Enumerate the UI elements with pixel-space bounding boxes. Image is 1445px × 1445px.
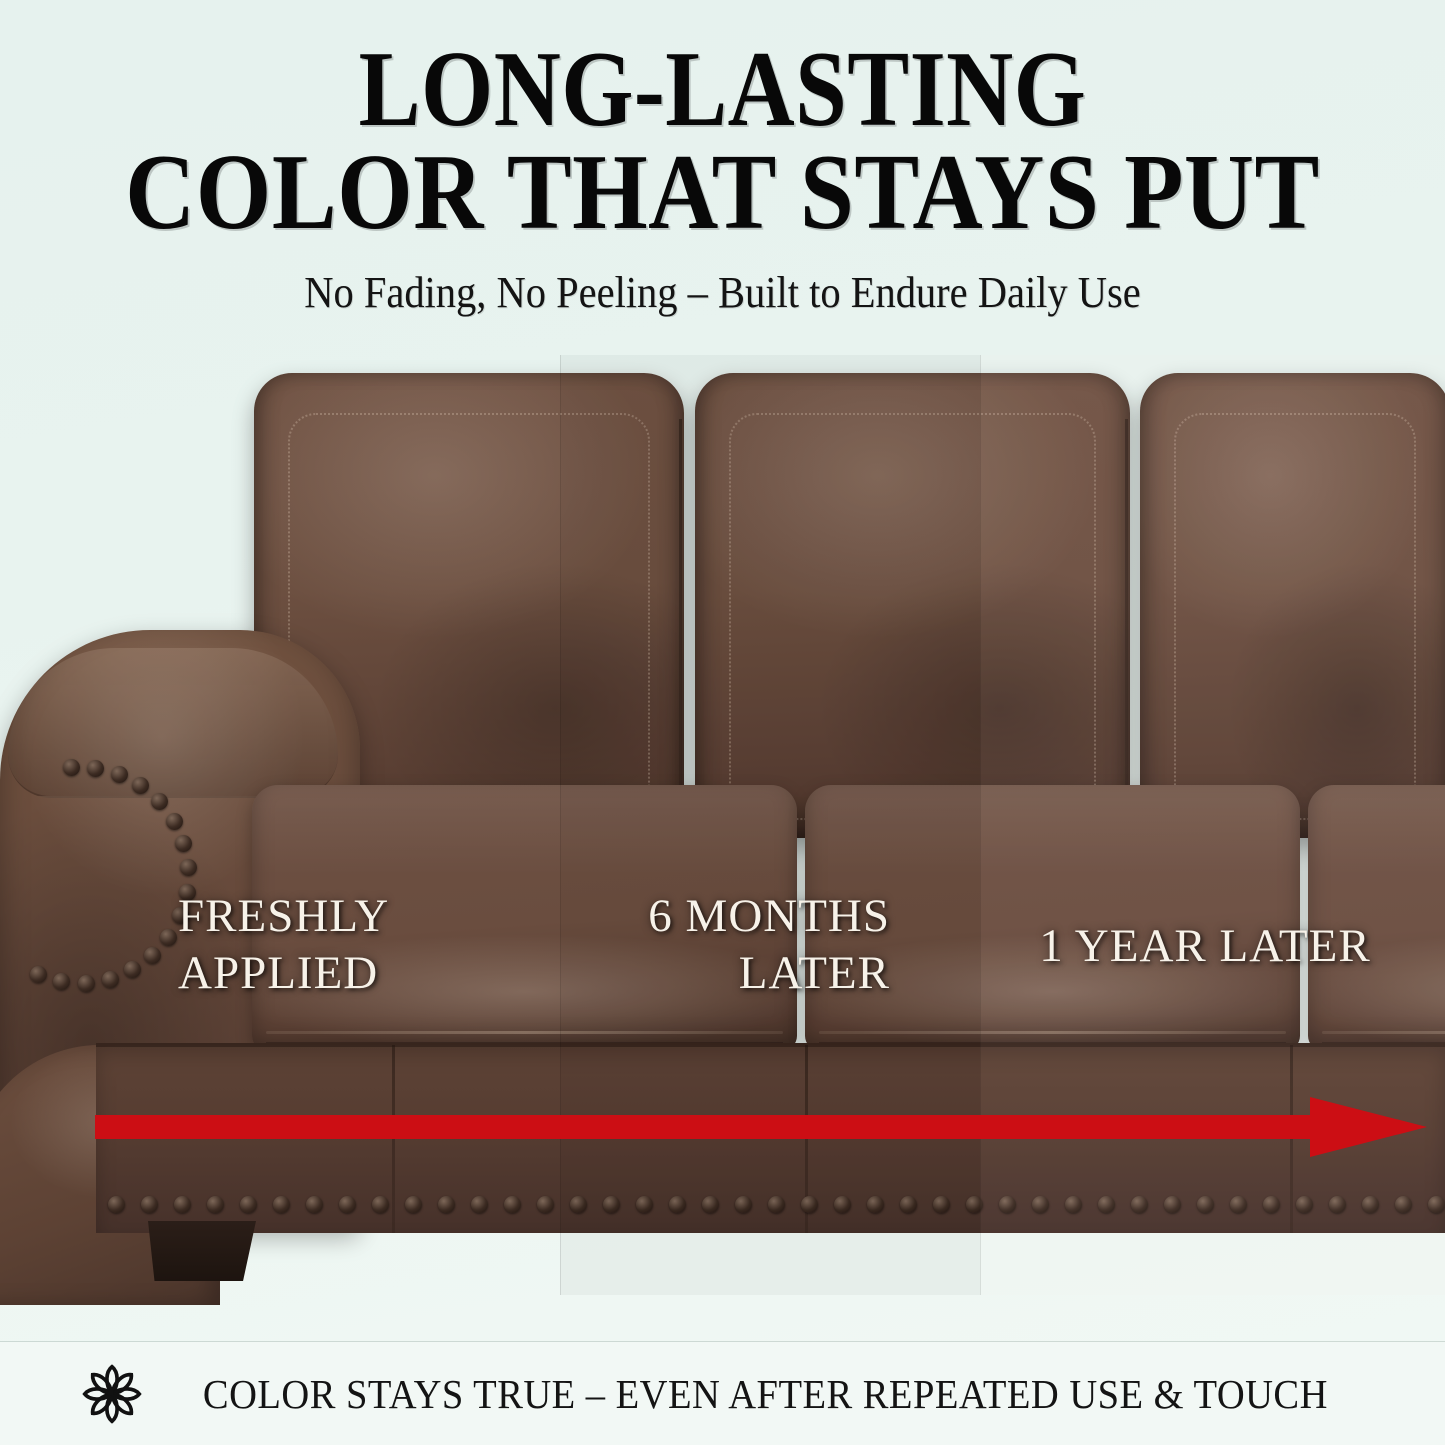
stitch-panel-icon (1174, 413, 1416, 820)
nailhead-stud (999, 1196, 1016, 1213)
nailhead-stud (933, 1196, 950, 1213)
nailhead-stud (537, 1196, 554, 1213)
nailhead-stud (207, 1196, 224, 1213)
stitch-panel-icon (729, 413, 1096, 820)
nailhead-stud (405, 1196, 422, 1213)
nailhead-stud (175, 835, 192, 852)
nailhead-stud (603, 1196, 620, 1213)
nailhead-stud (306, 1196, 323, 1213)
nailhead-stud (1263, 1196, 1280, 1213)
nailhead-stud (174, 1196, 191, 1213)
nailhead-stud (1098, 1196, 1115, 1213)
infographic-canvas: LONG-LASTING COLOR THAT STAYS PUT No Fad… (0, 0, 1445, 1445)
nailhead-stud (669, 1196, 686, 1213)
stage-label-freshly-applied: FRESHLY APPLIED (178, 888, 389, 1003)
subheadline: No Fading, No Peeling – Built to Endure … (58, 267, 1387, 318)
nailhead-stud (900, 1196, 917, 1213)
welt-highlight (266, 1031, 783, 1034)
back-cushion-middle (695, 373, 1130, 838)
nailhead-stud (240, 1196, 257, 1213)
nailhead-stud (1230, 1196, 1247, 1213)
flower-petal (89, 1371, 116, 1398)
welt-highlight (1322, 1031, 1445, 1034)
nailhead-stud (273, 1196, 290, 1213)
welt-highlight (819, 1031, 1286, 1034)
nailhead-stud (180, 859, 197, 876)
seam-line (679, 419, 682, 828)
nailhead-stud (702, 1196, 719, 1213)
nailhead-stud (1395, 1196, 1412, 1213)
nailhead-stud (735, 1196, 752, 1213)
nailhead-stud (166, 813, 183, 830)
flower-icon (81, 1363, 143, 1425)
nailhead-stud (87, 760, 104, 777)
footer-banner: COLOR STAYS TRUE – EVEN AFTER REPEATED U… (0, 1342, 1445, 1445)
nailhead-stud (160, 929, 177, 946)
back-cushion-right (1140, 373, 1445, 838)
nailhead-stud (339, 1196, 356, 1213)
base-top-edge (96, 1043, 1445, 1047)
header-block: LONG-LASTING COLOR THAT STAYS PUT No Fad… (0, 0, 1445, 345)
nailhead-stud (30, 966, 47, 983)
nailhead-stud (63, 759, 80, 776)
nailhead-stud (108, 1196, 125, 1213)
nailhead-stud (124, 961, 141, 978)
nailhead-stud (1065, 1196, 1082, 1213)
timeline-arrow (95, 1085, 1440, 1170)
headline-line-2: COLOR THAT STAYS PUT (72, 143, 1373, 242)
nailhead-stud (78, 975, 95, 992)
seam-line (1125, 419, 1128, 828)
nailhead-stud (1164, 1196, 1181, 1213)
nailhead-stud (102, 971, 119, 988)
nailhead-stud (1362, 1196, 1379, 1213)
nailhead-stud (636, 1196, 653, 1213)
nailhead-stud (111, 766, 128, 783)
headline-line-1: LONG-LASTING (101, 40, 1344, 139)
nailhead-stud (151, 793, 168, 810)
sofa-wooden-foot (148, 1221, 256, 1281)
nailhead-stud (768, 1196, 785, 1213)
nailhead-stud (867, 1196, 884, 1213)
nailhead-stud (438, 1196, 455, 1213)
nailhead-stud (1296, 1196, 1313, 1213)
nailhead-stud (801, 1196, 818, 1213)
nailhead-stud (1428, 1196, 1445, 1213)
stage-label-one-year-later: 1 YEAR LATER (1020, 918, 1390, 975)
nailhead-stud (1131, 1196, 1148, 1213)
nailhead-stud (144, 947, 161, 964)
nailhead-trim-row (100, 1193, 1445, 1219)
nailhead-stud (504, 1196, 521, 1213)
nailhead-stud (132, 777, 149, 794)
nailhead-stud (1032, 1196, 1049, 1213)
nailhead-stud (1197, 1196, 1214, 1213)
nailhead-stud (570, 1196, 587, 1213)
sofa-backrest (240, 373, 1445, 838)
nailhead-stud (1329, 1196, 1346, 1213)
nailhead-stud (53, 973, 70, 990)
nailhead-stud (141, 1196, 158, 1213)
nailhead-stud (372, 1196, 389, 1213)
nailhead-stud (471, 1196, 488, 1213)
stage-label-six-months-later: 6 MONTHS LATER (580, 888, 890, 1003)
footer-banner-text: COLOR STAYS TRUE – EVEN AFTER REPEATED U… (203, 1370, 1328, 1418)
nailhead-stud (834, 1196, 851, 1213)
